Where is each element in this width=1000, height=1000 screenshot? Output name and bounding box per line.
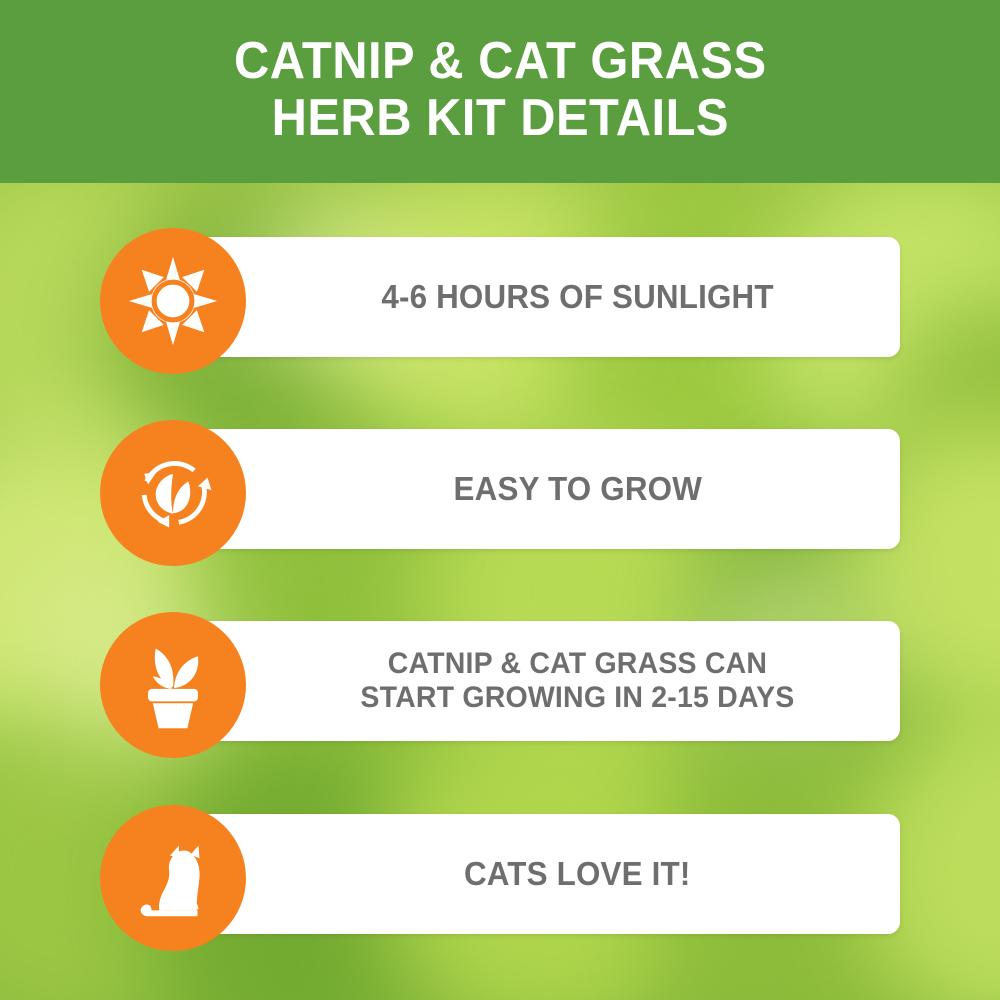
- feature-row: EASY TO GROW: [0, 420, 1000, 570]
- feature-card[interactable]: EASY TO GROW: [160, 429, 900, 549]
- feature-row: CATS LOVE IT!: [0, 805, 1000, 955]
- feature-card[interactable]: CATNIP & CAT GRASS CAN START GROWING IN …: [160, 621, 900, 741]
- potted-plant-icon: [125, 637, 221, 733]
- feature-row: CATNIP & CAT GRASS CAN START GROWING IN …: [0, 612, 1000, 762]
- cat-icon: [124, 829, 222, 927]
- feature-row: 4-6 HOURS OF SUNLIGHT: [0, 228, 1000, 378]
- feature-icon-badge[interactable]: [100, 228, 246, 374]
- feature-list: 4-6 HOURS OF SUNLIGHT: [0, 183, 1000, 1000]
- feature-label: CATNIP & CAT GRASS CAN START GROWING IN …: [360, 647, 794, 715]
- infographic-poster: CATNIP & CAT GRASS HERB KIT DETAILS 4-6 …: [0, 0, 1000, 1000]
- sun-icon: [127, 255, 219, 347]
- feature-icon-badge[interactable]: [100, 805, 246, 951]
- feature-label: 4-6 HOURS OF SUNLIGHT: [381, 278, 773, 316]
- recycle-leaf-icon: [125, 445, 221, 541]
- header-banner: CATNIP & CAT GRASS HERB KIT DETAILS: [0, 0, 1000, 183]
- feature-label: CATS LOVE IT!: [464, 855, 691, 893]
- feature-label: EASY TO GROW: [453, 470, 701, 508]
- feature-card[interactable]: 4-6 HOURS OF SUNLIGHT: [160, 237, 900, 357]
- feature-icon-badge[interactable]: [100, 420, 246, 566]
- page-title: CATNIP & CAT GRASS HERB KIT DETAILS: [234, 33, 767, 145]
- feature-icon-badge[interactable]: [100, 612, 246, 758]
- feature-card[interactable]: CATS LOVE IT!: [160, 814, 900, 934]
